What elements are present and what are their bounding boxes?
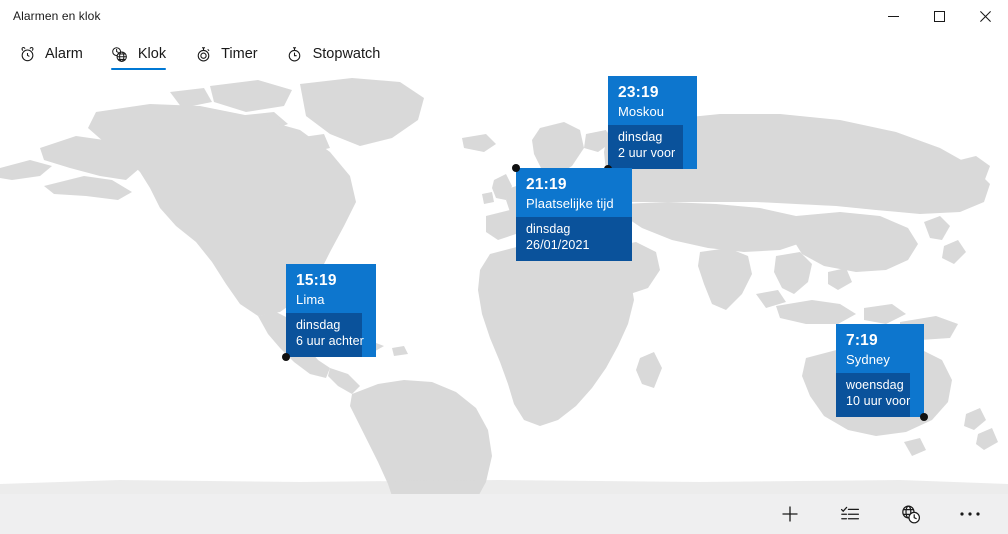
window-controls [870,0,1008,32]
clock-offset: 6 uur achter [296,333,352,350]
timer-icon [194,45,212,63]
clock-time: 23:19 [618,83,687,102]
clock-card-moskou[interactable]: 23:19 Moskou dinsdag 2 uur voor [608,76,697,169]
tab-stopwatch-label: Stopwatch [313,47,381,62]
clock-card-lima[interactable]: 15:19 Lima dinsdag 6 uur achter [286,264,376,357]
clock-offset: 26/01/2021 [526,237,622,254]
clock-card-header: 15:19 Lima [286,264,376,313]
clock-city: Plaatselijke tijd [526,195,622,212]
command-bar [0,494,1008,534]
checklist-icon [840,504,860,524]
world-map-area: 23:19 Moskou dinsdag 2 uur voor 21:19 Pl… [0,76,1008,494]
clock-card-header: 21:19 Plaatselijke tijd [516,168,632,217]
world-clock-icon [111,45,129,63]
clock-card-footer: dinsdag 26/01/2021 [516,217,632,262]
clock-time: 21:19 [526,175,622,194]
clock-day: dinsdag [526,221,622,238]
location-pin-dot [920,413,928,421]
more-button[interactable] [940,494,1000,534]
window-title: Alarmen en klok [0,9,101,23]
clock-card-header: 7:19 Sydney [836,324,924,373]
tab-alarm-underline [18,68,83,71]
location-pin-dot [512,164,520,172]
clock-day: woensdag [846,377,900,394]
compare-clocks-button[interactable] [880,494,940,534]
clock-city: Lima [296,291,366,308]
maximize-icon [934,11,945,22]
title-bar: Alarmen en klok [0,0,1008,32]
compare-clocks-icon [900,504,921,525]
select-button[interactable] [820,494,880,534]
alarm-clock-icon [18,45,36,63]
tab-bar: Alarm Klok Timer [0,32,1008,76]
minimize-button[interactable] [870,0,916,32]
tab-alarm[interactable]: Alarm [12,32,97,76]
plus-icon [780,504,800,524]
tab-timer-label: Timer [221,47,258,62]
ellipsis-icon [959,511,981,517]
tab-stopwatch-underline [286,68,381,71]
clock-card-sydney[interactable]: 7:19 Sydney woensdag 10 uur voor [836,324,924,417]
tab-klok[interactable]: Klok [105,32,180,76]
clock-card-header: 23:19 Moskou [608,76,697,125]
clock-card-footer: dinsdag 2 uur voor [608,125,683,170]
clock-offset: 2 uur voor [618,145,673,162]
tab-klok-label: Klok [138,47,166,62]
close-icon [980,11,991,22]
add-clock-button[interactable] [760,494,820,534]
maximize-button[interactable] [916,0,962,32]
clock-card-footer: woensdag 10 uur voor [836,373,910,418]
clock-day: dinsdag [618,129,673,146]
tab-timer[interactable]: Timer [188,32,272,76]
clock-card-footer: dinsdag 6 uur achter [286,313,362,358]
close-button[interactable] [962,0,1008,32]
clock-time: 15:19 [296,271,366,290]
location-pin-dot [282,353,290,361]
stopwatch-icon [286,45,304,63]
clock-city: Moskou [618,103,687,120]
clock-card-local[interactable]: 21:19 Plaatselijke tijd dinsdag 26/01/20… [516,168,632,261]
tab-alarm-label: Alarm [45,47,83,62]
minimize-icon [888,11,899,22]
clock-time: 7:19 [846,331,914,350]
tab-timer-underline [194,68,258,71]
clock-offset: 10 uur voor [846,393,900,410]
clock-day: dinsdag [296,317,352,334]
tab-klok-underline [111,68,166,71]
clock-city: Sydney [846,351,914,368]
world-map-graphic [0,76,1008,494]
tab-stopwatch[interactable]: Stopwatch [280,32,395,76]
